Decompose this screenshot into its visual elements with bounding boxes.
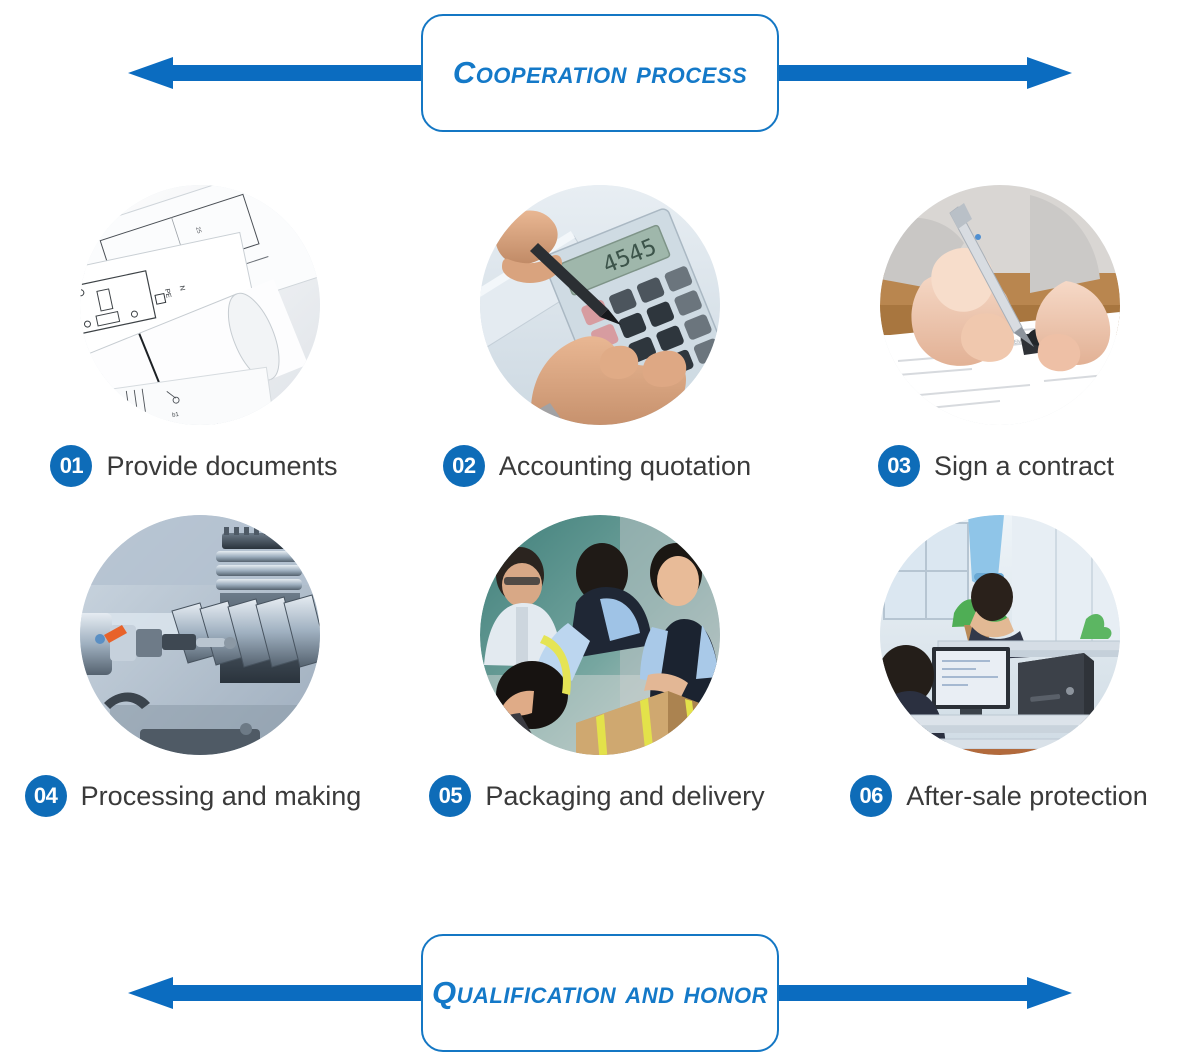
step-caption-01: 01 Provide documents — [50, 443, 337, 489]
step-label-03: Sign a contract — [934, 451, 1114, 482]
qualification-and-honor-banner: Qualification and honor — [0, 928, 1200, 1058]
step-badge-04: 04 — [25, 775, 67, 817]
step-caption-06: 06 After-sale protection — [850, 773, 1148, 819]
step-label-01: Provide documents — [106, 451, 337, 482]
step-label-02: Accounting quotation — [499, 451, 751, 482]
step-item-04[interactable]: 04 Processing and making — [0, 515, 400, 845]
step-caption-04: 04 Processing and making — [25, 773, 362, 819]
left-arrow-icon-bottom — [128, 977, 438, 1009]
rolled-blueprints-photo: 25 PE N — [80, 185, 320, 425]
cooperation-process-banner: Cooperation process — [0, 8, 1200, 138]
cnc-machining-photo — [80, 515, 320, 755]
step-caption-02: 02 Accounting quotation — [443, 443, 751, 489]
step-label-04: Processing and making — [81, 781, 362, 812]
step-badge-02: 02 — [443, 445, 485, 487]
process-steps-grid: 25 PE N — [0, 185, 1200, 845]
step-item-01[interactable]: 25 PE N — [0, 185, 400, 515]
banner-title-box: Cooperation process — [421, 14, 779, 132]
step-row-2: 04 Processing and making — [0, 515, 1200, 845]
right-arrow-icon — [762, 57, 1072, 89]
step-badge-03: 03 — [878, 445, 920, 487]
step-caption-03: 03 Sign a contract — [878, 443, 1114, 489]
office-workstations-photo — [880, 515, 1120, 755]
step-item-02[interactable]: 4545 — [400, 185, 800, 515]
signing-contract-photo: AGREEMENT TERMS AND CONDITIONS — [880, 185, 1120, 425]
step-item-03[interactable]: AGREEMENT TERMS AND CONDITIONS — [800, 185, 1200, 515]
step-label-05: Packaging and delivery — [485, 781, 764, 812]
right-arrow-icon-bottom — [762, 977, 1072, 1009]
banner-title-bottom: Qualification and honor — [432, 975, 768, 1011]
step-label-06: After-sale protection — [906, 781, 1148, 812]
step-item-05[interactable]: 05 Packaging and delivery — [400, 515, 800, 845]
left-arrow-icon — [128, 57, 438, 89]
step-item-06[interactable]: 06 After-sale protection — [800, 515, 1200, 845]
banner-title-top: Cooperation process — [453, 55, 747, 91]
hand-using-calculator-photo: 4545 — [480, 185, 720, 425]
banner-title-box-bottom: Qualification and honor — [421, 934, 779, 1052]
workers-packaging-box-photo — [480, 515, 720, 755]
step-badge-05: 05 — [429, 775, 471, 817]
step-badge-01: 01 — [50, 445, 92, 487]
step-caption-05: 05 Packaging and delivery — [429, 773, 764, 819]
step-badge-06: 06 — [850, 775, 892, 817]
step-row-1: 25 PE N — [0, 185, 1200, 515]
